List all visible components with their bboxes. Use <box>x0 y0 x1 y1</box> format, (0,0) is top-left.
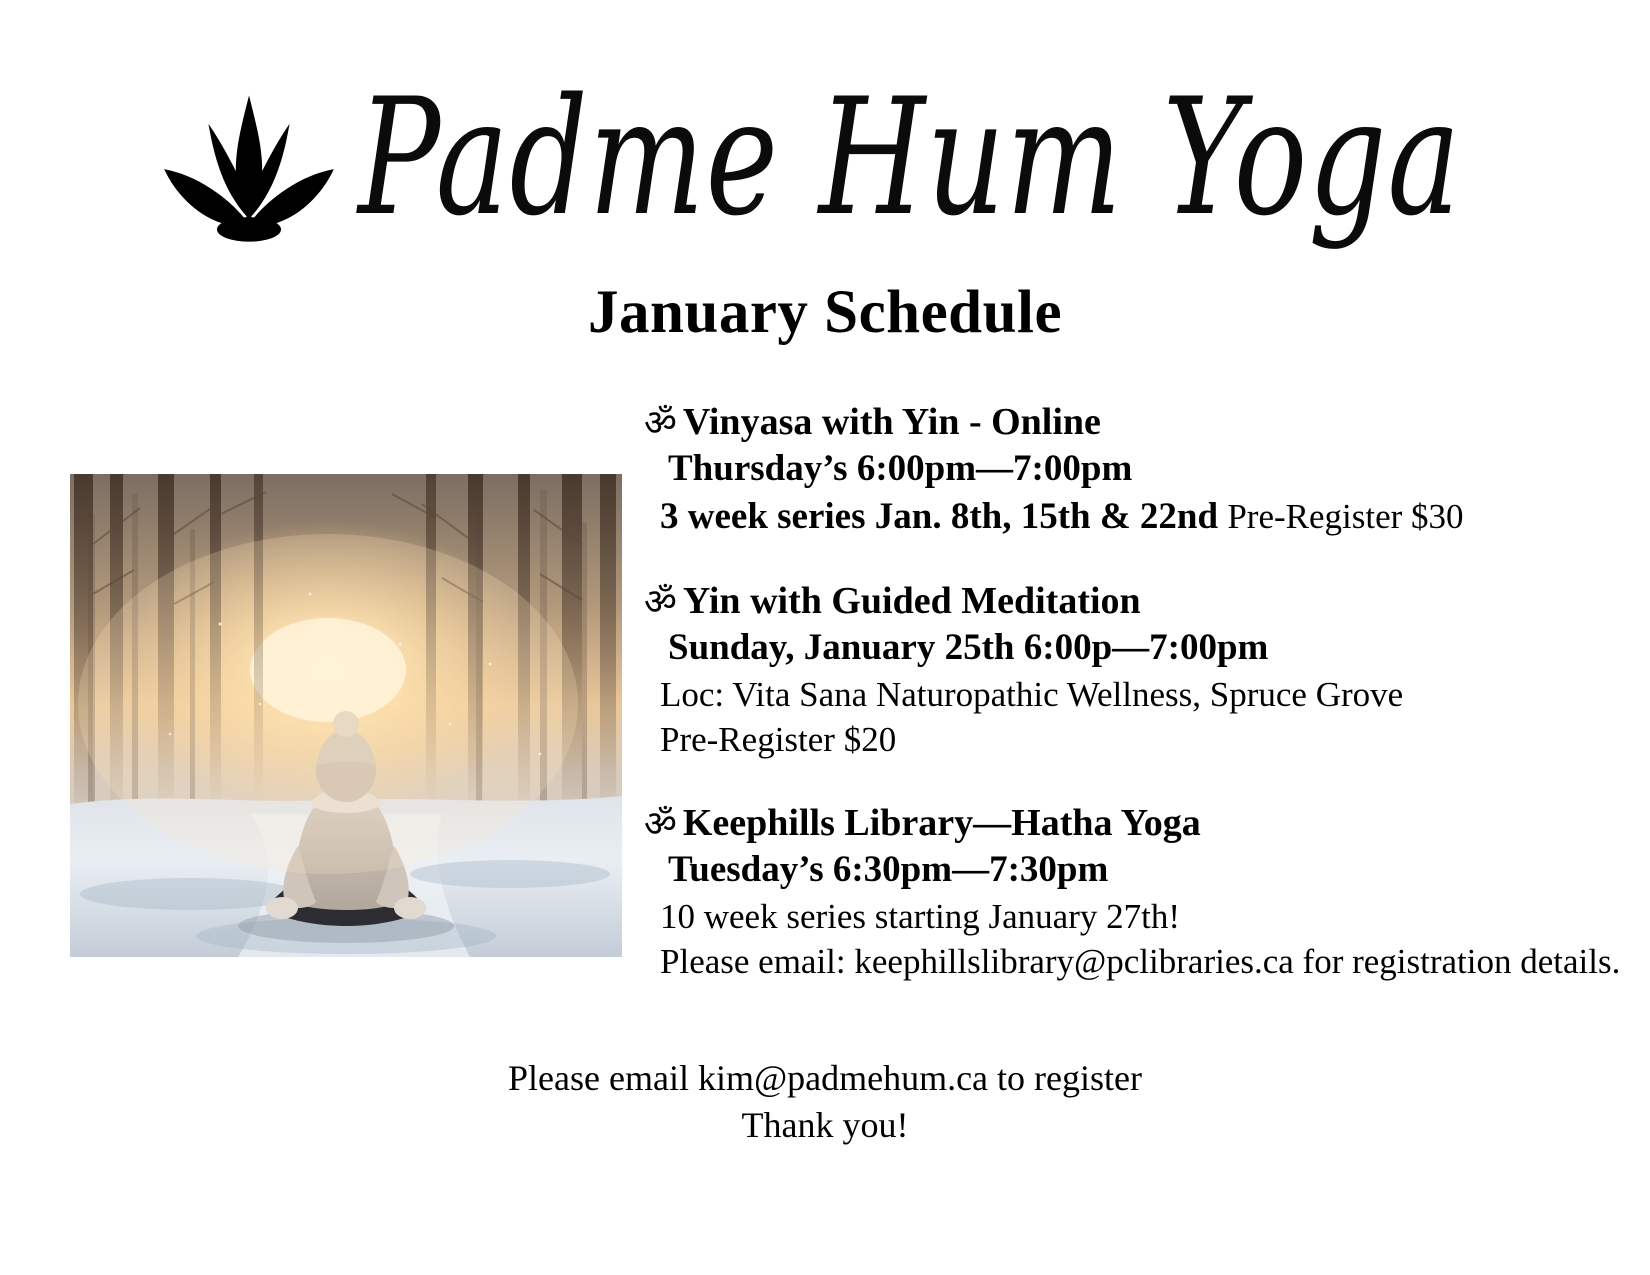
class-price: Pre-Register $30 <box>1227 497 1463 536</box>
footer-register-line: Please email kim@padmehum.ca to register <box>0 1055 1650 1102</box>
class-series: 10 week series starting January 27th! <box>660 894 1602 940</box>
class-title: ॐ Keephills Library—Hatha Yoga <box>644 801 1602 846</box>
class-title: ॐ Vinyasa with Yin - Online <box>644 400 1602 445</box>
brand-logo: Padme Hum Yoga <box>0 62 1650 253</box>
class-block-vinyasa-with-yin: ॐ Vinyasa with Yin - Online Thursday’s 6… <box>642 400 1602 541</box>
footer-thanks-line: Thank you! <box>0 1102 1650 1149</box>
class-name: Yin with Guided Meditation <box>683 579 1141 624</box>
class-title: ॐ Yin with Guided Meditation <box>644 579 1602 624</box>
class-series-and-price: 3 week series Jan. 8th, 15th & 22nd Pre-… <box>660 493 1602 541</box>
om-icon: ॐ <box>644 807 677 843</box>
class-time: Thursday’s 6:00pm—7:00pm <box>668 445 1602 493</box>
class-series: 3 week series Jan. 8th, 15th & 22nd <box>660 496 1218 537</box>
class-name: Keephills Library—Hatha Yoga <box>683 801 1201 846</box>
meditation-photo <box>70 474 622 957</box>
footer: Please email kim@padmehum.ca to register… <box>0 1055 1650 1149</box>
class-contact-email: Please email: keephillslibrary@pclibrari… <box>660 939 1602 985</box>
schedule-list: ॐ Vinyasa with Yin - Online Thursday’s 6… <box>642 400 1602 985</box>
om-icon: ॐ <box>644 406 677 442</box>
class-time: Tuesday’s 6:30pm—7:30pm <box>668 846 1602 894</box>
class-block-yin-with-guided-meditation: ॐ Yin with Guided Meditation Sunday, Jan… <box>642 579 1602 763</box>
page-title: January Schedule <box>0 278 1650 348</box>
class-block-keephills-library-hatha-yoga: ॐ Keephills Library—Hatha Yoga Tuesday’s… <box>642 801 1602 985</box>
class-name: Vinyasa with Yin - Online <box>683 400 1101 445</box>
class-time: Sunday, January 25th 6:00p—7:00pm <box>668 624 1602 672</box>
om-icon: ॐ <box>644 585 677 621</box>
brand-name: Padme Hum Yoga <box>358 77 1461 238</box>
lotus-icon <box>154 88 344 253</box>
class-location: Loc: Vita Sana Naturopathic Wellness, Sp… <box>660 672 1602 718</box>
class-price: Pre-Register $20 <box>660 717 1602 763</box>
